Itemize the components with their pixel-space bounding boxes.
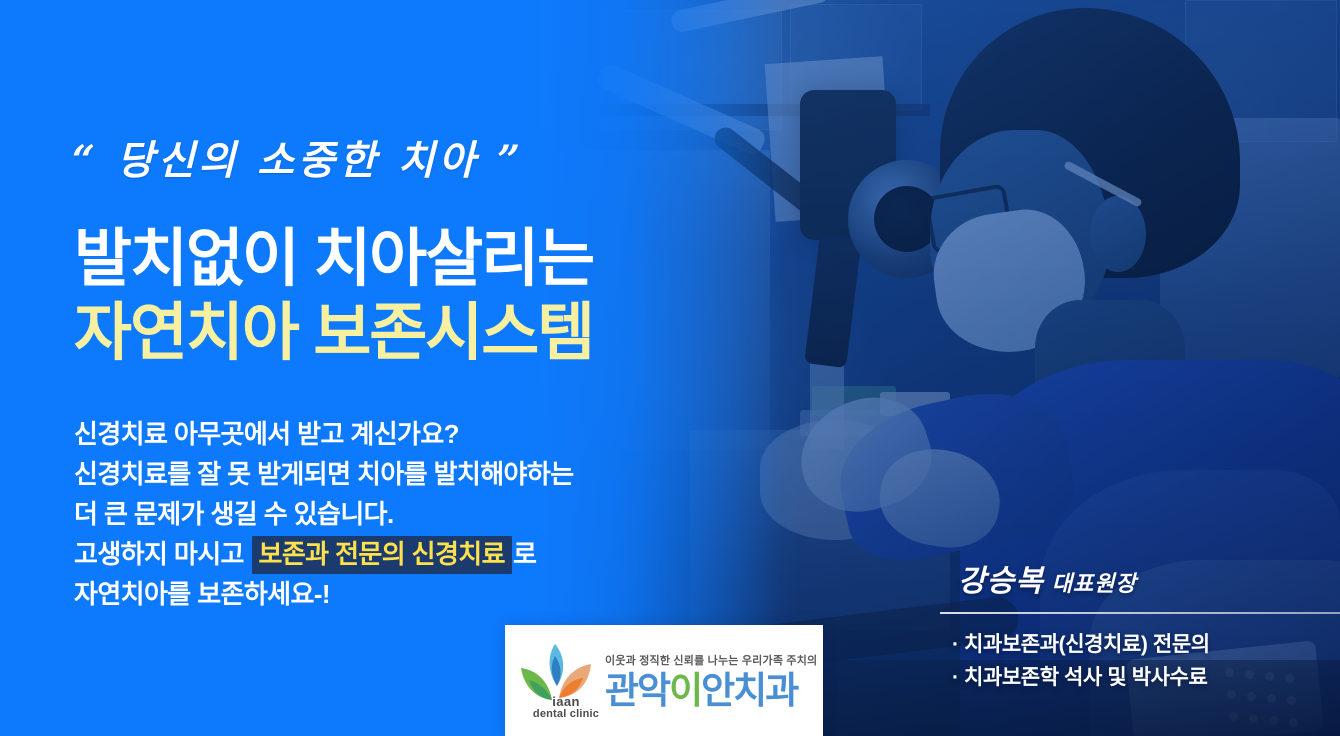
clinic-name: 관악이안치과: [605, 672, 817, 709]
headline-line-1: 발치없이 치아살리는: [74, 222, 593, 296]
body-copy: 신경치료 아무곳에서 받고 계신가요? 신경치료를 잘 못 받게되면 치아를 발…: [74, 414, 574, 614]
clinic-promo-banner: “ 당신의 소중한 치아 ” 발치없이 치아살리는 자연치아 보존시스템 신경치…: [0, 0, 1340, 736]
doctor-credentials: · 치과보존과(신경치료) 전문의 · 치과보존학 석사 및 박사수료: [952, 628, 1210, 694]
body-line-5: 자연치아를 보존하세요-!: [74, 574, 574, 614]
doctor-name: 강승복: [958, 564, 1044, 599]
clinic-name-part-3: 안치과: [701, 670, 797, 711]
logo-brand-en-top: iaan: [527, 696, 605, 708]
doctor-signature: 강승복대표원장: [958, 556, 1137, 600]
eyebrow-quote: “ 당신의 소중한 치아 ”: [72, 128, 524, 186]
body-line-4-prefix: 고생하지 마시고: [74, 539, 251, 569]
highlighted-phrase: 보존과 전문의 신경치료: [252, 536, 512, 574]
body-line-2: 신경치료를 잘 못 받게되면 치아를 발치해야하는: [74, 454, 574, 494]
page-title: 발치없이 치아살리는 자연치아 보존시스템: [74, 222, 593, 371]
clinic-logo-card: iaan dental clinic 이웃과 정직한 신뢰를 나누는 우리가족 …: [505, 625, 823, 736]
logo-brand-en-bottom: dental clinic: [533, 708, 599, 720]
clinic-name-part-2: 이: [669, 670, 701, 711]
body-line-1: 신경치료 아무곳에서 받고 계신가요?: [74, 414, 574, 454]
credential-item: · 치과보존학 석사 및 박사수료: [952, 661, 1210, 694]
credential-item: · 치과보존과(신경치료) 전문의: [952, 628, 1210, 661]
headline-line-2: 자연치아 보존시스템: [74, 296, 593, 370]
body-line-4-suffix: 로: [513, 539, 536, 569]
leaf-logo-icon: iaan dental clinic: [517, 642, 595, 726]
divider-line: [940, 612, 1340, 614]
doctor-role: 대표원장: [1052, 571, 1137, 597]
logo-wordmark: iaan dental clinic: [527, 696, 605, 720]
clinic-name-part-1: 관악: [605, 670, 669, 711]
body-line-4: 고생하지 마시고 보존과 전문의 신경치료로: [74, 534, 574, 574]
logo-tagline: 이웃과 정직한 신뢰를 나누는 우리가족 주치의: [605, 652, 817, 668]
body-line-3: 더 큰 문제가 생길 수 있습니다.: [74, 494, 574, 534]
